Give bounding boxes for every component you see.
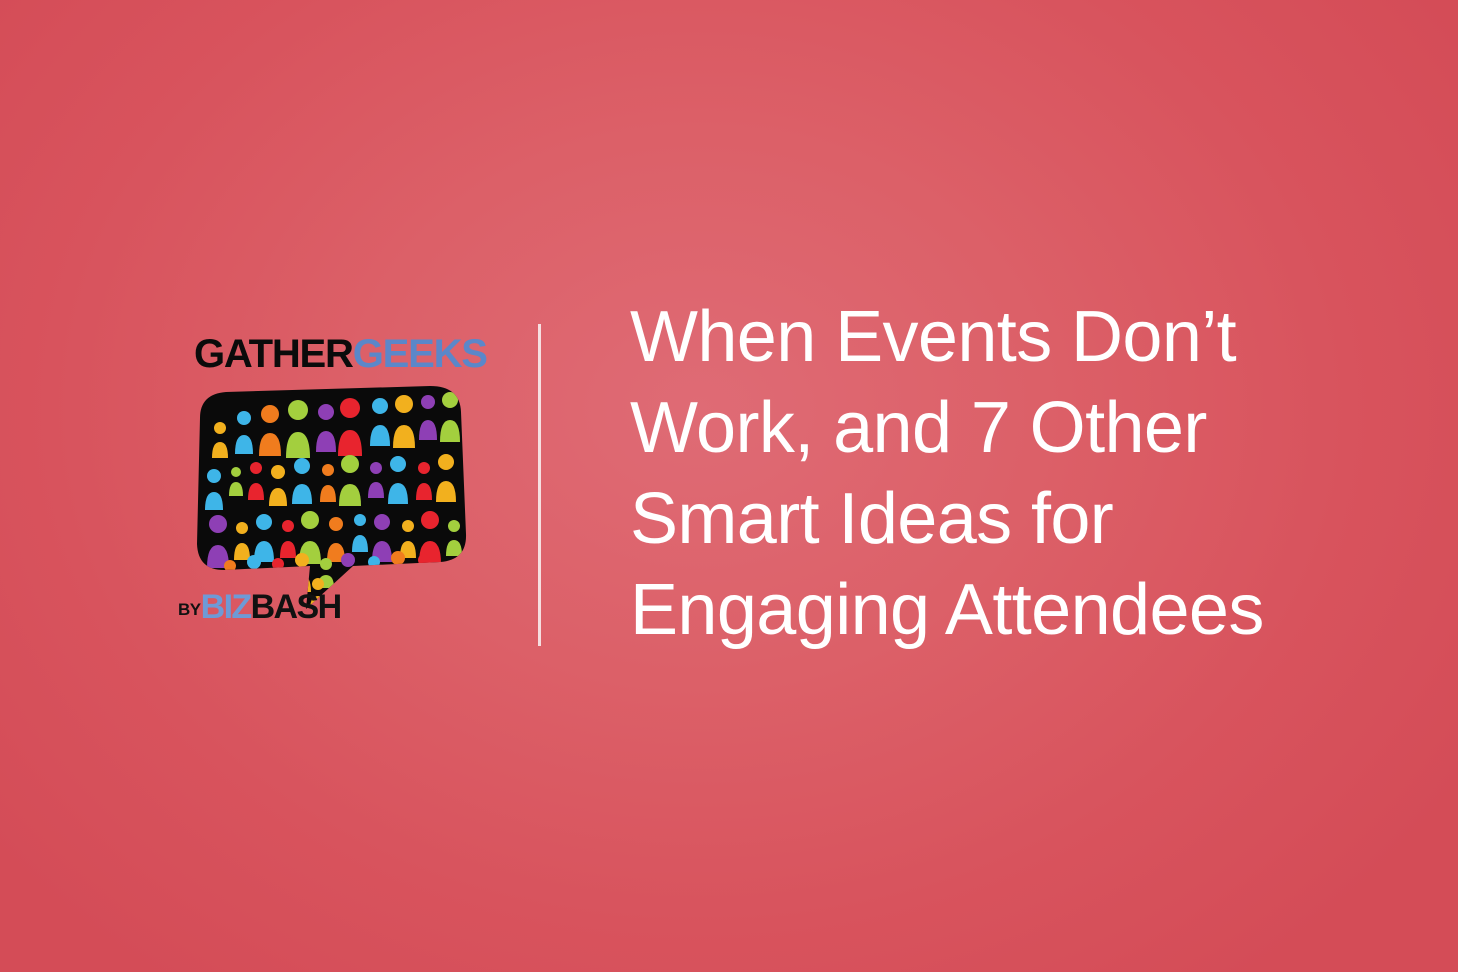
vertical-divider bbox=[538, 324, 541, 646]
logo-byline-biz: BIZ bbox=[201, 588, 251, 626]
logo-byline: BYBIZBASH bbox=[178, 590, 341, 624]
gathergeeks-logo: GATHERGEEKS bbox=[178, 318, 488, 648]
logo-byline-bash: BASH bbox=[251, 588, 341, 626]
logo-byline-by: BY bbox=[178, 600, 201, 619]
logo-wordmark-geeks: GEEKS bbox=[353, 332, 487, 376]
title-line-3: Smart Ideas for bbox=[630, 474, 1330, 565]
logo-wordmark: GATHERGEEKS bbox=[194, 334, 487, 374]
title-line-4: Engaging Attendees bbox=[630, 565, 1330, 656]
page-title: When Events Don’t Work, and 7 Other Smar… bbox=[630, 292, 1330, 656]
title-line-1: When Events Don’t bbox=[630, 292, 1330, 383]
podcast-title-card: GATHERGEEKS bbox=[0, 0, 1458, 972]
speech-bubble-crowd-icon bbox=[178, 384, 478, 614]
logo-wordmark-gather: GATHER bbox=[194, 332, 353, 376]
title-line-2: Work, and 7 Other bbox=[630, 383, 1330, 474]
